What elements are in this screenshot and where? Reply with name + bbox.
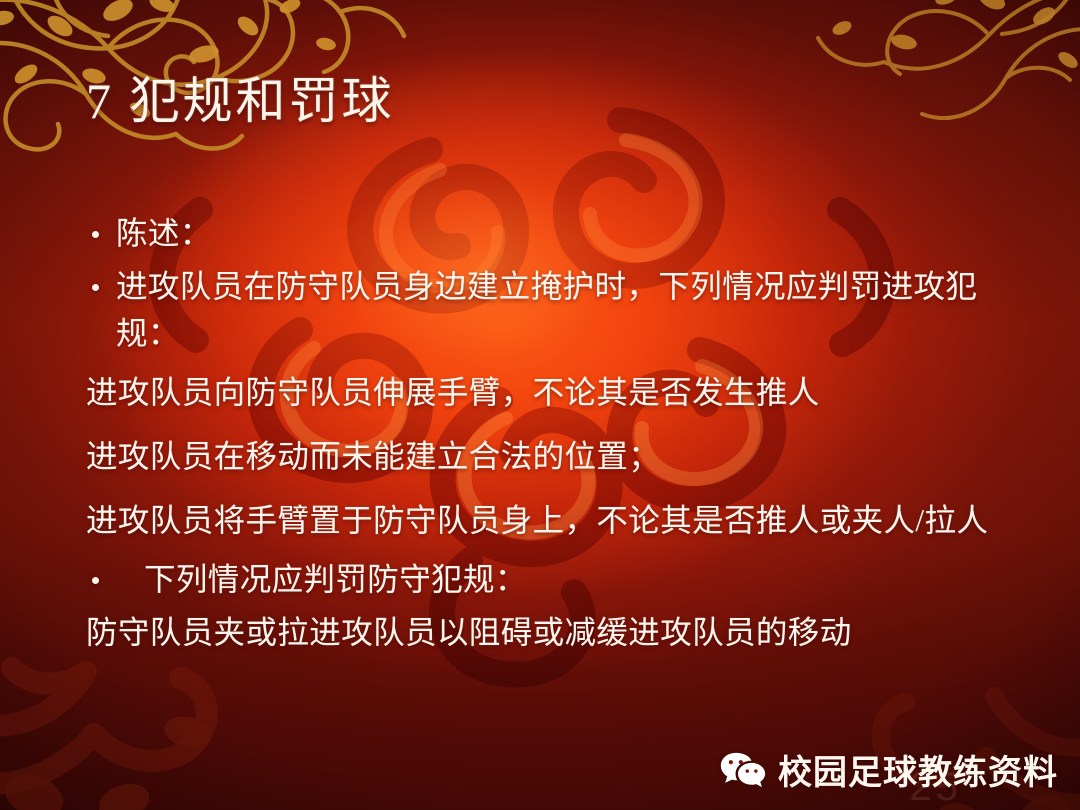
body-line-2: 进攻队员在防守队员身边建立掩护时，下列情况应判罚进攻犯规： xyxy=(86,263,1026,357)
watermark-label: 校园足球教练资料 xyxy=(778,745,1058,794)
body-line-7: 防守队员夹或拉进攻队员以阻碍或减缓进攻队员的移动 xyxy=(86,609,1026,656)
wechat-watermark: 校园足球教练资料 xyxy=(720,745,1058,794)
spacer xyxy=(86,480,1026,497)
slide-content: 7 犯规和罚球 陈述： 进攻队员在防守队员身边建立掩护时，下列情况应判罚进攻犯规… xyxy=(0,0,1080,810)
spacer xyxy=(86,357,1026,369)
presentation-slide: 7 犯规和罚球 陈述： 进攻队员在防守队员身边建立掩护时，下列情况应判罚进攻犯规… xyxy=(0,0,1080,810)
body-line-5: 进攻队员将手臂置于防守队员身上，不论其是否推人或夹人/拉人 xyxy=(86,497,1026,544)
body-line-6: 下列情况应判罚防守犯规： xyxy=(86,556,1026,603)
body-line-3: 进攻队员向防守队员伸展手臂，不论其是否发生推人 xyxy=(86,369,1026,416)
spacer xyxy=(86,416,1026,433)
slide-body: 陈述： 进攻队员在防守队员身边建立掩护时，下列情况应判罚进攻犯规： 进攻队员向防… xyxy=(86,210,1026,656)
body-line-4: 进攻队员在移动而未能建立合法的位置； xyxy=(86,433,1026,480)
spacer xyxy=(86,544,1026,556)
slide-title: 7 犯规和罚球 xyxy=(86,74,395,129)
wechat-icon xyxy=(720,750,766,790)
body-line-1: 陈述： xyxy=(86,210,1026,257)
